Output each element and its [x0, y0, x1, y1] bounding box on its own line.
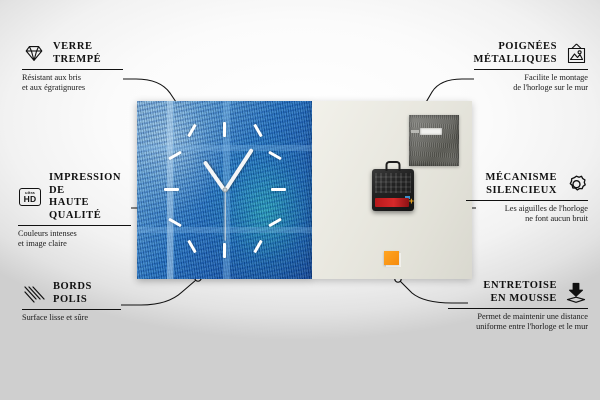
clock-pivot	[222, 188, 227, 193]
pattern-bar	[137, 145, 312, 151]
feature-sub-line2: et aux égratignures	[22, 83, 85, 92]
foam-spacer	[384, 251, 399, 265]
clock-second-hand	[224, 191, 225, 241]
quartz-mechanism	[372, 169, 414, 211]
feature-sub-line1: Résistant aux bris	[22, 73, 81, 82]
feature-poignees-metalliques: POIGNÉES MÉTALLIQUES Facilite le montage…	[474, 41, 588, 93]
clock-tick	[187, 124, 197, 138]
clock-tick	[187, 240, 197, 254]
feature-sub-line1: Couleurs intenses	[18, 229, 77, 238]
ultra-hd-icon: ultra HD	[18, 186, 42, 208]
feature-title-line2: POLIS	[53, 294, 87, 305]
polished-edges-icon	[22, 283, 46, 305]
feature-sub-line2: et image claire	[18, 239, 67, 248]
feature-title-line2: EN MOUSSE	[490, 293, 557, 304]
feature-title-line1: POIGNÉES	[498, 41, 557, 52]
callout-rule	[22, 69, 123, 70]
metal-hanger-plate	[409, 115, 459, 166]
feature-impression-hd: ultra HD IMPRESSION DE HAUTE QUALITÉ Cou…	[18, 172, 131, 249]
callout-rule	[466, 200, 588, 201]
infographic-canvas: VERRE TREMPÉ Résistant aux bris et aux é…	[0, 0, 600, 400]
gear-icon	[564, 174, 588, 196]
clock-tick	[271, 188, 286, 191]
feature-sub-line2: ne font aucun bruit	[525, 214, 588, 223]
feature-mecanisme-silencieux: MÉCANISME SILENCIEUX Les aiguilles de l'…	[466, 172, 588, 224]
clock-tick	[253, 124, 263, 138]
feature-entretoise-mousse: ENTRETOISE EN MOUSSE Permet de maintenir…	[448, 280, 588, 332]
feature-verre-trempe: VERRE TREMPÉ Résistant aux bris et aux é…	[22, 41, 123, 93]
feature-title-line2: TREMPÉ	[53, 54, 101, 65]
clock-tick	[164, 188, 179, 191]
feature-sub-line1: Permet de maintenir une distance	[477, 312, 588, 321]
feature-sub-line1: Surface lisse et sûre	[22, 313, 88, 322]
feature-bords-polis: BORDS POLIS Surface lisse et sûre	[22, 281, 121, 323]
clock-tick	[268, 218, 282, 228]
clock-tick	[223, 243, 226, 258]
clock-back-panel	[312, 101, 472, 279]
clock-tick	[253, 240, 263, 254]
clock-front-face	[137, 101, 312, 279]
clock-tick	[223, 122, 226, 137]
diamond-icon	[22, 43, 46, 65]
feature-title-line2: SILENCIEUX	[486, 185, 557, 196]
feature-sub-line1: Facilite le montage	[524, 73, 588, 82]
feature-sub-line2: uniforme entre l'horloge et le mur	[476, 322, 588, 331]
callout-rule	[474, 69, 588, 70]
feature-title-line1: BORDS	[53, 281, 92, 292]
feature-sub-line2: de l'horloge sur le mur	[513, 83, 588, 92]
callout-rule	[448, 308, 588, 309]
foam-spacer-icon	[564, 282, 588, 304]
feature-title-line1: VERRE	[53, 41, 93, 52]
feature-title-line2: HAUTE QUALITÉ	[49, 197, 101, 221]
feature-title-line1: ENTRETOISE	[483, 280, 557, 291]
feature-title-line2: MÉTALLIQUES	[474, 54, 557, 65]
battery	[375, 198, 409, 207]
product-image	[137, 101, 472, 279]
feature-title-line1: IMPRESSION DE	[49, 172, 121, 196]
feature-title-line1: MÉCANISME	[486, 172, 557, 183]
clock-tick	[268, 151, 282, 161]
hanger-slot	[420, 128, 442, 135]
callout-rule	[22, 309, 121, 310]
feature-sub-line1: Les aiguilles de l'horloge	[505, 204, 588, 213]
mechanism-body	[375, 173, 411, 193]
callout-rule	[18, 225, 131, 226]
hd-icon-large-text: HD	[24, 195, 37, 204]
picture-hanger-icon	[564, 43, 588, 65]
mechanism-hook	[386, 161, 401, 171]
